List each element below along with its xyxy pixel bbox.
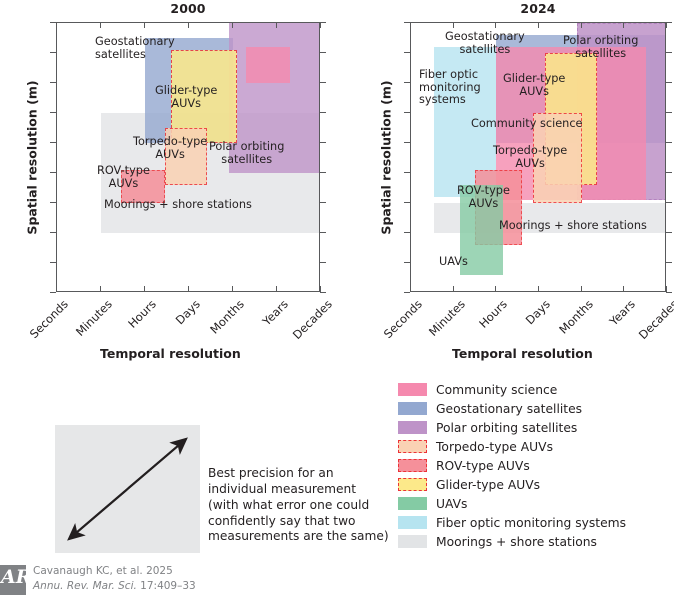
y-tick: [50, 232, 56, 233]
x-tick: [453, 286, 454, 292]
legend-label: Moorings + shore stations: [436, 535, 597, 549]
y-tick-right: [666, 232, 672, 233]
x-tick: [320, 286, 321, 292]
y-tick-right: [666, 172, 672, 173]
legend-swatch: [398, 535, 427, 548]
y-tick-right: [320, 112, 326, 113]
y-tick-right: [666, 202, 672, 203]
y-tick-right: [666, 262, 672, 263]
y-tick: [404, 112, 410, 113]
legend-label: UAVs: [436, 497, 467, 511]
legend-item-polar-orbiting-satellites[interactable]: Polar orbiting satellites: [398, 418, 626, 437]
y-tick: [50, 82, 56, 83]
legend-label: Community science: [436, 383, 557, 397]
x-axis-title-2000: Temporal resolution: [100, 346, 241, 361]
axis-ticks-2000: [56, 22, 320, 292]
legend-swatch: [398, 421, 427, 434]
legend-swatch: [398, 440, 427, 453]
x-tick: [100, 286, 101, 292]
x-tick-top: [410, 22, 411, 28]
x-tick: [538, 286, 539, 292]
y-axis-title-2000: Spatial resolution (m): [25, 58, 40, 258]
y-tick-right: [666, 52, 672, 53]
y-tick: [50, 262, 56, 263]
x-tick-top: [232, 22, 233, 28]
y-tick: [404, 232, 410, 233]
y-tick-right: [666, 82, 672, 83]
y-tick: [404, 292, 410, 293]
citation-line-2: Annu. Rev. Mar. Sci. 17:409–33: [33, 580, 196, 592]
x-tick-top: [276, 22, 277, 28]
y-axis-title-2024: Spatial resolution (m): [379, 58, 394, 258]
legend-label: Glider-type AUVs: [436, 478, 540, 492]
x-tick-top: [144, 22, 145, 28]
citation-volume: 17:409–33: [137, 580, 196, 592]
y-tick: [50, 52, 56, 53]
y-tick: [404, 142, 410, 143]
legend-swatch: [398, 402, 427, 415]
y-tick-right: [320, 202, 326, 203]
y-tick-right: [666, 112, 672, 113]
y-tick-right: [320, 142, 326, 143]
y-tick: [404, 52, 410, 53]
x-axis-title-2024: Temporal resolution: [452, 346, 593, 361]
legend-label: Geostationary satellites: [436, 402, 582, 416]
y-tick: [50, 292, 56, 293]
x-tick: [495, 286, 496, 292]
y-tick: [404, 262, 410, 263]
legend-item-rov-type-auvs[interactable]: ROV-type AUVs: [398, 456, 626, 475]
x-tick: [623, 286, 624, 292]
y-tick: [50, 112, 56, 113]
citation-line-1: Cavanaugh KC, et al. 2025: [33, 565, 173, 577]
x-tick-top: [56, 22, 57, 28]
axis-ticks-2024: [410, 22, 666, 292]
y-tick-right: [320, 292, 326, 293]
y-tick-right: [320, 262, 326, 263]
x-tick-top: [623, 22, 624, 28]
legend-label: Torpedo-type AUVs: [436, 440, 553, 454]
legend-swatch: [398, 497, 427, 510]
legend-swatch: [398, 383, 427, 396]
y-tick-right: [666, 292, 672, 293]
x-tick: [188, 286, 189, 292]
y-tick-right: [666, 142, 672, 143]
y-tick-right: [320, 232, 326, 233]
x-tick: [276, 286, 277, 292]
x-tick-top: [581, 22, 582, 28]
legend: Community scienceGeostationary satellite…: [398, 380, 626, 551]
legend-item-fiber-optic-monitoring-systems[interactable]: Fiber optic monitoring systems: [398, 513, 626, 532]
y-tick: [404, 202, 410, 203]
legend-label: ROV-type AUVs: [436, 459, 530, 473]
citation-journal: Annu. Rev. Mar. Sci.: [33, 580, 137, 592]
x-tick: [144, 286, 145, 292]
y-tick: [50, 202, 56, 203]
legend-label: Polar orbiting satellites: [436, 421, 577, 435]
x-tick: [410, 286, 411, 292]
legend-item-geostationary-satellites[interactable]: Geostationary satellites: [398, 399, 626, 418]
x-tick-top: [495, 22, 496, 28]
x-tick-top: [666, 22, 667, 28]
figure-root: 2000 Geostationary satellitesGlider-type…: [0, 0, 674, 600]
inset-arrow-icon: [55, 425, 200, 553]
x-tick-top: [100, 22, 101, 28]
x-tick-top: [453, 22, 454, 28]
legend-item-uavs[interactable]: UAVs: [398, 494, 626, 513]
y-tick-right: [320, 172, 326, 173]
y-tick: [50, 142, 56, 143]
x-tick-top: [320, 22, 321, 28]
x-tick: [581, 286, 582, 292]
y-tick: [50, 172, 56, 173]
x-tick-top: [538, 22, 539, 28]
panel-2024-title: 2024: [410, 1, 666, 16]
x-tick: [56, 286, 57, 292]
panel-2000-title: 2000: [56, 1, 320, 16]
y-tick: [404, 82, 410, 83]
legend-swatch: [398, 459, 427, 472]
legend-item-glider-type-auvs[interactable]: Glider-type AUVs: [398, 475, 626, 494]
x-tick-top: [188, 22, 189, 28]
y-tick-right: [320, 52, 326, 53]
y-tick-right: [320, 82, 326, 83]
legend-swatch: [398, 478, 427, 491]
legend-item-moorings-shore-stations[interactable]: Moorings + shore stations: [398, 532, 626, 551]
x-tick: [232, 286, 233, 292]
legend-label: Fiber optic monitoring systems: [436, 516, 626, 530]
legend-item-torpedo-type-auvs[interactable]: Torpedo-type AUVs: [398, 437, 626, 456]
legend-item-community-science[interactable]: Community science: [398, 380, 626, 399]
annual-reviews-logo-text: AR: [1, 568, 27, 587]
inset-caption: Best precision for an individual measure…: [208, 466, 389, 545]
y-tick: [404, 172, 410, 173]
x-tick: [666, 286, 667, 292]
legend-swatch: [398, 516, 427, 529]
